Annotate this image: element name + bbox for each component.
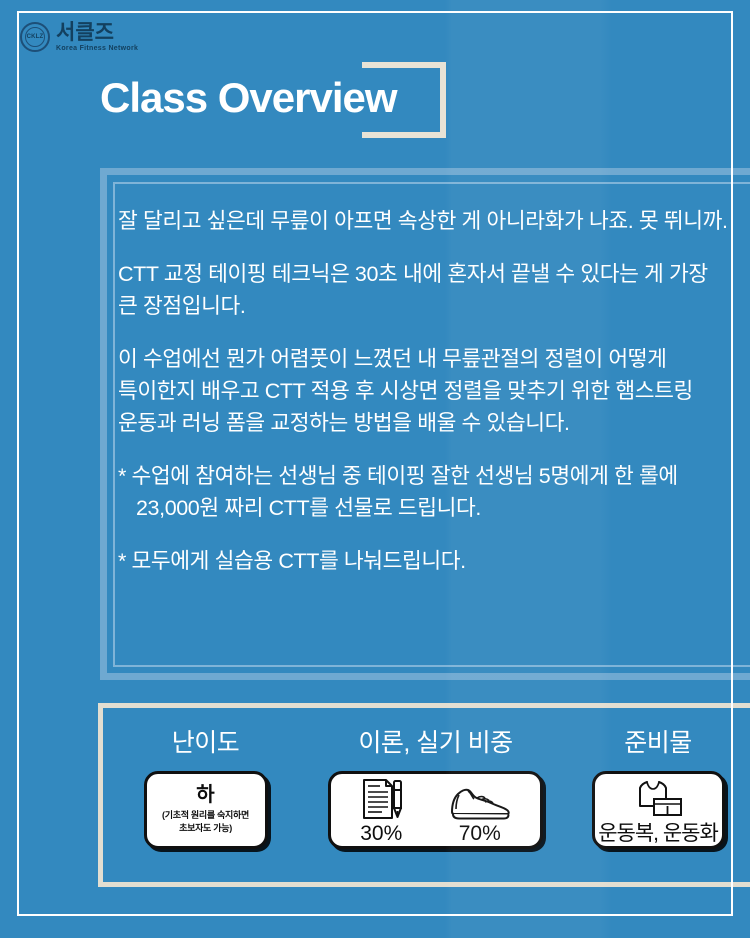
difficulty-note: (기초적 원리를 숙지하면 초보자도 가능): [162, 809, 249, 835]
supplies-heading: 준비물: [624, 723, 692, 759]
ratio-value-practice: 70%: [459, 823, 501, 844]
info-column-ratio: 이론, 실기 비중: [313, 723, 558, 849]
sneaker-icon: [447, 777, 513, 821]
difficulty-card: 하 (기초적 원리를 숙지하면 초보자도 가능): [144, 771, 268, 849]
info-panel: 난이도 하 (기초적 원리를 숙지하면 초보자도 가능) 이론, 실기 비중: [98, 703, 750, 887]
ratio-item-theory: 30%: [358, 777, 404, 844]
logo-wordmark: 서클즈 Korea Fitness Network: [56, 22, 138, 52]
logo-badge-icon: CKLZ: [20, 22, 50, 52]
body-paragraph-2: CTT 교정 테이핑 테크닉은 30초 내에 혼자서 끝낼 수 있다는 게 가장…: [118, 258, 730, 322]
body-note-2: * 모두에게 실습용 CTT를 나눠드립니다.: [118, 545, 730, 577]
logo-name-ko: 서클즈: [56, 22, 138, 43]
difficulty-heading: 난이도: [172, 723, 240, 759]
poster-canvas: CKLZ 서클즈 Korea Fitness Network Class Ove…: [0, 0, 750, 938]
body-paragraph-1: 잘 달리고 싶은데 무릎이 아프면 속상한 게 아니라화가 나죠. 못 뛰니까.: [118, 205, 730, 237]
logo-name-en: Korea Fitness Network: [56, 45, 138, 52]
body-copy: 잘 달리고 싶은데 무릎이 아프면 속상한 게 아니라화가 나죠. 못 뛰니까.…: [118, 205, 730, 598]
document-pen-icon: [358, 777, 404, 821]
sportswear-icon: [629, 778, 687, 822]
ratio-card: 30% 70%: [328, 771, 543, 849]
ratio-value-theory: 30%: [360, 823, 402, 844]
difficulty-grade: 하: [196, 785, 214, 805]
logo-badge-text: CKLZ: [27, 34, 44, 40]
difficulty-note-line2: 초보자도 가능): [179, 823, 232, 833]
body-paragraph-3: 이 수업에선 뭔가 어렴풋이 느꼈던 내 무릎관절의 정렬이 어떻게 특이한지 …: [118, 343, 730, 439]
supplies-label: 운동복, 운동화: [598, 823, 718, 844]
supplies-card: 운동복, 운동화: [592, 771, 725, 849]
ratio-heading: 이론, 실기 비중: [358, 723, 512, 759]
ratio-item-practice: 70%: [447, 777, 513, 844]
page-title: Class Overview: [100, 74, 397, 122]
page-title-area: Class Overview: [100, 62, 460, 142]
info-column-difficulty: 난이도 하 (기초적 원리를 숙지하면 초보자도 가능): [98, 723, 313, 849]
body-note-1: * 수업에 참여하는 선생님 중 테이핑 잘한 선생님 5명에게 한 롤에 23…: [118, 460, 730, 524]
difficulty-note-line1: (기초적 원리를 숙지하면: [162, 810, 249, 820]
brand-logo: CKLZ 서클즈 Korea Fitness Network: [20, 22, 138, 52]
info-column-supplies: 준비물 운동복, 운동화: [558, 723, 750, 849]
